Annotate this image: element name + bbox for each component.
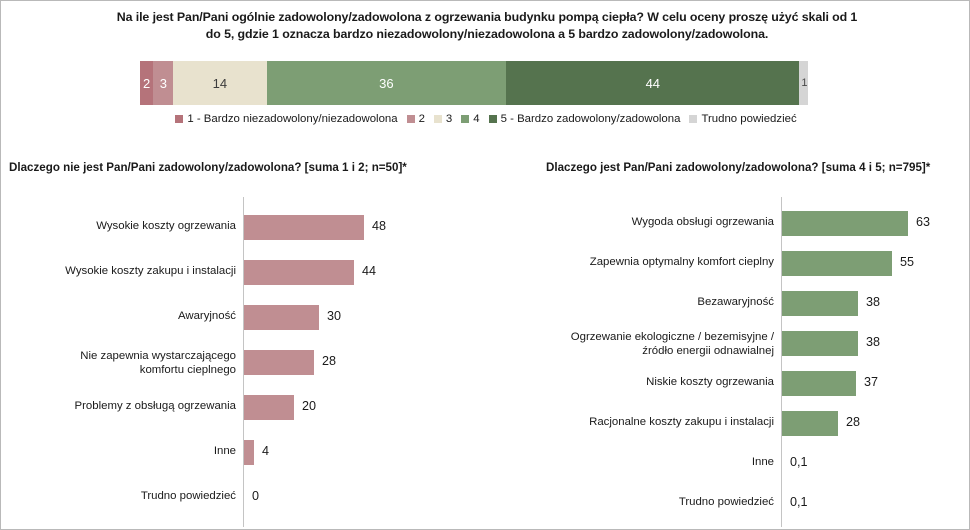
bar-value-label: 0 [252, 489, 259, 503]
legend-label: 4 [473, 113, 479, 125]
bar-holder: 4 [5, 440, 475, 465]
legend-label: Trudno powiedzieć [701, 113, 796, 125]
legend-label: 2 [419, 113, 425, 125]
stack-segment-value: 44 [646, 76, 660, 91]
dissatisfaction-bar-chart: Wysokie koszty ogrzewania48Wysokie koszt… [5, 197, 475, 527]
stack-segment-1: 2 [140, 61, 153, 105]
chart-row: Problemy z obsługą ogrzewania20 [5, 395, 475, 421]
legend-item-2: 2 [407, 113, 425, 125]
bar [782, 291, 858, 316]
stack-segment-value: 1 [801, 77, 807, 89]
stack-segment-4: 36 [267, 61, 507, 105]
legend-swatch-icon [434, 115, 442, 123]
bar [782, 411, 838, 436]
legend-swatch-icon [407, 115, 415, 123]
bar-value-label: 30 [327, 309, 341, 323]
legend-swatch-icon [689, 115, 697, 123]
bar-holder: 30 [5, 305, 475, 330]
legend-swatch-icon [461, 115, 469, 123]
bar-holder: 48 [5, 215, 475, 240]
satisfaction-stacked-bar: 231436441 [140, 61, 808, 105]
stack-segment-value: 14 [213, 76, 227, 91]
bar-value-label: 55 [900, 255, 914, 269]
infographic-root: Na ile jest Pan/Pani ogólnie zadowolony/… [0, 0, 970, 530]
bar-value-label: 20 [302, 399, 316, 413]
satisfaction-reasons-bar-chart: Wygoda obsługi ogrzewania63Zapewnia opty… [493, 197, 967, 527]
legend-item-3: 3 [434, 113, 452, 125]
bar-holder: 28 [5, 350, 475, 375]
bar-holder: 0,1 [493, 451, 967, 476]
stack-segment-5: 44 [506, 61, 799, 105]
bar [244, 395, 294, 420]
bar [244, 260, 354, 285]
bar-holder: 0 [5, 485, 475, 510]
value-axis-line [781, 197, 782, 527]
bar-holder: 0,1 [493, 491, 967, 516]
chart-row: Nie zapewnia wystarczającegokomfortu cie… [5, 350, 475, 376]
bar-holder: 38 [493, 291, 967, 316]
bar [244, 305, 319, 330]
bar [782, 251, 892, 276]
bar [782, 211, 908, 236]
chart-row: Ogrzewanie ekologiczne / bezemisyjne /źr… [493, 331, 967, 357]
right-panel-heading: Dlaczego jest Pan/Pani zadowolony/zadowo… [546, 161, 930, 174]
bar-holder: 44 [5, 260, 475, 285]
chart-row: Niskie koszty ogrzewania37 [493, 371, 967, 397]
bar-holder: 37 [493, 371, 967, 396]
stack-segment-value: 2 [143, 76, 150, 91]
bar-holder: 28 [493, 411, 967, 436]
legend-item-4: 4 [461, 113, 479, 125]
bar [782, 371, 856, 396]
bar [244, 215, 364, 240]
bar-value-label: 38 [866, 335, 880, 349]
bar-value-label: 37 [864, 375, 878, 389]
legend-swatch-icon [175, 115, 183, 123]
bar-holder: 20 [5, 395, 475, 420]
stack-segment-value: 3 [160, 76, 167, 91]
bar [244, 440, 254, 465]
chart-row: Racjonalne koszty zakupu i instalacji28 [493, 411, 967, 437]
legend-item-1: 1 - Bardzo niezadowolony/niezadowolona [175, 113, 397, 125]
chart-row: Wygoda obsługi ogrzewania63 [493, 211, 967, 237]
bar-holder: 55 [493, 251, 967, 276]
chart-row: Trudno powiedzieć0,1 [493, 491, 967, 517]
legend-swatch-icon [489, 115, 497, 123]
legend: 1 - Bardzo niezadowolony/niezadowolona23… [1, 113, 970, 125]
stack-segment-2: 3 [153, 61, 173, 105]
bar-value-label: 63 [916, 215, 930, 229]
stack-segment-value: 36 [379, 76, 393, 91]
chart-row: Inne4 [5, 440, 475, 466]
bar-holder: 63 [493, 211, 967, 236]
legend-label: 5 - Bardzo zadowolony/zadowolona [501, 113, 681, 125]
bar-value-label: 0,1 [790, 495, 808, 509]
chart-row: Wysokie koszty zakupu i instalacji44 [5, 260, 475, 286]
bar [244, 350, 314, 375]
bar-value-label: 4 [262, 444, 269, 458]
stack-segment-3: 14 [173, 61, 266, 105]
chart-row: Inne0,1 [493, 451, 967, 477]
chart-row: Trudno powiedzieć0 [5, 485, 475, 511]
legend-item-6: Trudno powiedzieć [689, 113, 796, 125]
bar [782, 331, 858, 356]
legend-label: 1 - Bardzo niezadowolony/niezadowolona [187, 113, 397, 125]
stack-segment-6: 1 [799, 61, 808, 105]
bar-value-label: 28 [846, 415, 860, 429]
bar-value-label: 28 [322, 354, 336, 368]
page-title: Na ile jest Pan/Pani ogólnie zadowolony/… [113, 9, 861, 43]
bar-value-label: 38 [866, 295, 880, 309]
chart-row: Wysokie koszty ogrzewania48 [5, 215, 475, 241]
chart-row: Zapewnia optymalny komfort cieplny55 [493, 251, 967, 277]
chart-row: Awaryjność30 [5, 305, 475, 331]
left-panel-heading: Dlaczego nie jest Pan/Pani zadowolony/za… [9, 161, 407, 174]
bar-holder: 38 [493, 331, 967, 356]
bar-value-label: 44 [362, 264, 376, 278]
legend-item-5: 5 - Bardzo zadowolony/zadowolona [489, 113, 681, 125]
legend-label: 3 [446, 113, 452, 125]
chart-row: Bezawaryjność38 [493, 291, 967, 317]
bar-value-label: 0,1 [790, 455, 808, 469]
bar-value-label: 48 [372, 219, 386, 233]
